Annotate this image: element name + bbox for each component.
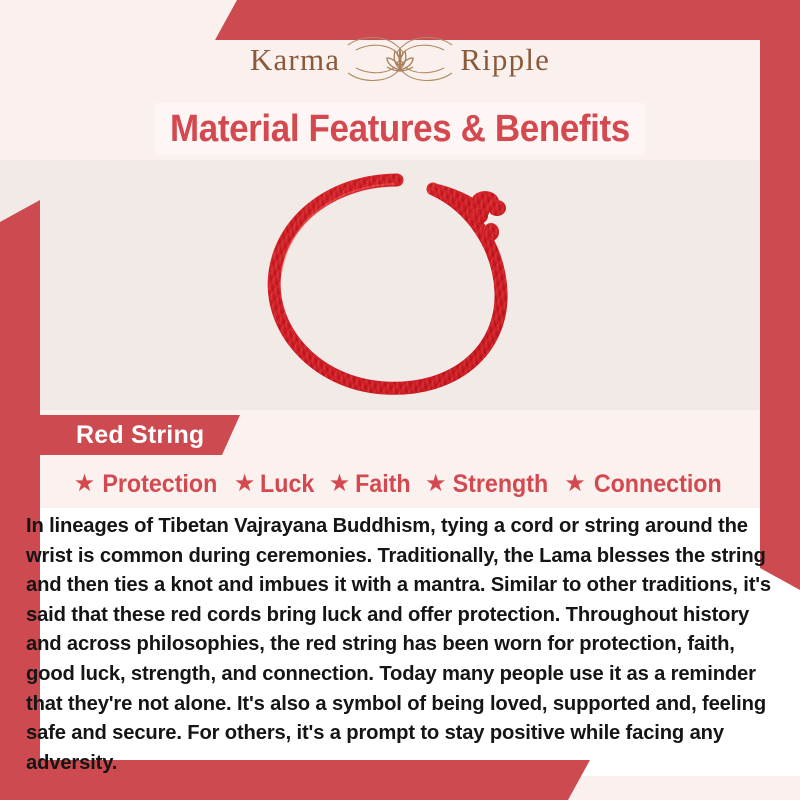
infographic-card: Karma — [0, 0, 800, 800]
brand-name-right: Ripple — [460, 44, 550, 75]
feature-item-luck: ★ Luck — [230, 470, 321, 499]
feature-label: Connection — [594, 470, 722, 499]
feature-label: Strength — [453, 470, 549, 499]
product-name-label: Red String — [28, 421, 204, 450]
feature-label: Luck — [260, 470, 314, 499]
feature-item-faith: ★ Faith — [325, 470, 417, 499]
brand-logo: Karma — [0, 36, 800, 82]
page-title: Material Features & Benefits — [170, 108, 630, 151]
lotus-flourish-icon — [346, 36, 454, 82]
feature-list: ★ Protection ★ Luck ★ Faith ★ Strength ★… — [0, 463, 800, 505]
star-icon: ★ — [74, 472, 96, 496]
star-icon: ★ — [329, 472, 351, 496]
red-braided-string-bracelet-icon — [245, 160, 555, 410]
star-icon: ★ — [564, 472, 586, 496]
product-name-ribbon: Red String — [28, 415, 240, 455]
feature-item-strength: ★ Strength — [421, 470, 556, 499]
product-description: In lineages of Tibetan Vajrayana Buddhis… — [26, 512, 774, 778]
feature-label: Faith — [355, 470, 411, 499]
feature-item-protection: ★ Protection — [70, 470, 226, 499]
star-icon: ★ — [425, 472, 447, 496]
feature-label: Protection — [103, 470, 218, 499]
page-title-band: Material Features & Benefits — [155, 103, 645, 155]
decorative-bar-top — [215, 0, 800, 40]
product-hero-image — [0, 160, 800, 410]
feature-item-connection: ★ Connection — [560, 470, 730, 499]
brand-name-left: Karma — [250, 44, 340, 75]
star-icon: ★ — [234, 472, 256, 496]
